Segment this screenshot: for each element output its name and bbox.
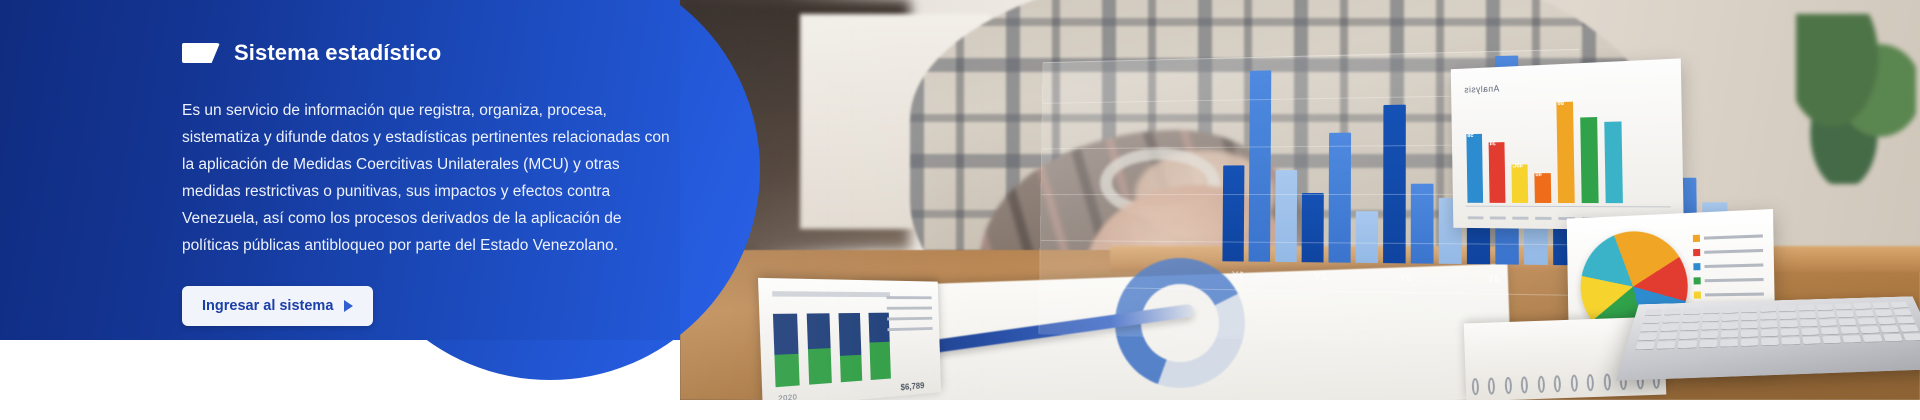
laptop-key [1781,329,1799,336]
laptop-key [1700,331,1718,338]
laptop-key [1664,308,1682,315]
laptop-key [1701,323,1719,330]
banner-content: Sistema estadístico Es un servicio de in… [182,0,682,326]
laptop-key [1761,321,1778,328]
enter-system-button[interactable]: Ingresar al sistema [182,286,373,326]
glass-chart-bar [1222,166,1244,262]
banner-description: Es un servicio de información que regist… [182,98,672,260]
laptop-key [1703,307,1720,313]
laptop-key [1821,327,1839,334]
laptop-key [1761,338,1779,346]
analysis-card-bar: 86 [1556,101,1574,203]
pie-legend-swatch [1693,263,1700,270]
laptop-key [1801,328,1819,335]
glass-chart-bar [1356,212,1378,263]
analysis-card-bar-label: 58 [1467,133,1473,139]
laptop-key [1835,303,1852,309]
laptop-key [1903,333,1920,340]
play-arrow-icon [344,300,353,312]
pie-legend-row [1693,247,1763,256]
laptop-key [1863,334,1882,341]
laptop-key [1721,322,1738,329]
laptop-key [1761,329,1779,336]
laptop-key [1682,315,1700,322]
analysis-card-bar-label: 34 [1490,141,1496,147]
laptop-key [1800,320,1818,327]
laptop-key [1760,306,1776,312]
statistics-system-banner: 2020 $6,789 100080804011Y2Y3Y4Y Analysis… [0,0,1920,420]
pie-legend-row [1693,261,1763,270]
glass-chart-bar [1302,193,1324,262]
laptop-key [1779,305,1796,311]
laptop-key [1890,302,1908,308]
page-title: Sistema estadístico [234,40,441,66]
laptop-key [1818,311,1836,318]
laptop-key [1893,309,1912,316]
photo-laptop-keyboard [1616,296,1920,380]
laptop-key [1760,313,1777,320]
laptop-key [1636,342,1656,350]
analysis-card-bar: 40 [1534,173,1551,203]
laptop-key [1822,336,1841,344]
pie-legend-text-placeholder [1704,249,1763,254]
analysis-card-bar-label: 86 [1557,101,1564,107]
laptop-key [1681,323,1699,330]
pie-legend-swatch [1693,235,1700,242]
glass-chart-bar [1383,104,1406,263]
glass-chart-gridline [1040,286,1580,296]
laptop-key [1782,337,1800,345]
laptop-key [1839,319,1857,326]
analysis-card-axis [1466,206,1671,208]
analysis-card-bar [1604,121,1623,203]
laptop-key [1640,325,1659,332]
laptop-key [1741,338,1759,346]
pie-legend-text-placeholder [1704,263,1763,268]
glass-chart-x-tick: 4Y [1487,274,1500,286]
laptop-key [1657,341,1676,349]
laptop-key [1856,310,1874,317]
glass-chart-x-tick: 1Y [1232,270,1244,281]
laptop-key [1883,334,1903,341]
laptop-key [1679,332,1697,339]
laptop-key [1798,304,1815,310]
laptop-key [1741,306,1757,312]
pie-legend-text-placeholder [1705,278,1764,282]
pie-legend-text-placeholder [1704,234,1763,239]
flag-parallelogram-icon [182,43,220,63]
laptop-key [1663,316,1681,323]
laptop-key [1643,317,1661,324]
laptop-key [1899,325,1919,332]
laptop-keys [1636,302,1920,350]
laptop-key [1720,339,1738,347]
laptop-key [1638,333,1657,340]
pie-legend-text-placeholder [1705,292,1764,296]
laptop-key [1702,315,1719,322]
laptop-key [1645,309,1663,316]
analysis-card-bar [1580,117,1598,203]
laptop-key [1860,326,1879,333]
laptop-key [1722,307,1738,313]
laptop-key [1659,332,1678,339]
laptop-key [1741,314,1758,321]
pie-legend-row [1693,232,1763,242]
laptop-key [1699,340,1717,348]
pie-legend-swatch [1694,291,1701,298]
glass-chart-x-tick: 3Y [1399,272,1412,283]
laptop-key [1780,320,1797,327]
laptop-key [1877,317,1896,324]
glass-chart-x-tick: 2Y [1314,271,1326,282]
photo-analysis-bar-card: Analysis 583440C4086 [1451,58,1684,230]
laptop-key [1896,317,1915,324]
analysis-card-bar-label: 40C [1512,163,1523,169]
laptop-key [1819,319,1837,326]
pie-legend-row [1694,276,1764,285]
laptop-key [1780,313,1797,320]
laptop-key [1872,302,1890,308]
laptop-key [1684,308,1701,314]
laptop-key [1874,310,1892,317]
laptop-key [1802,336,1821,344]
analysis-card-bars: 583440C4086 [1466,89,1623,203]
enter-system-label: Ingresar al sistema [202,298,333,314]
laptop-key [1837,311,1855,318]
laptop-key [1741,322,1758,329]
laptop-key [1841,327,1860,334]
analysis-card-bar-label: 40 [1535,172,1542,178]
laptop-key [1741,330,1758,337]
laptop-key [1721,330,1739,337]
photo-plant [1796,14,1916,184]
laptop-key [1799,312,1816,319]
pie-legend-row [1694,290,1764,298]
pie-legend-swatch [1694,277,1701,284]
analysis-card-bar: 58 [1466,134,1483,203]
analysis-card-bar: 34 [1489,142,1506,203]
laptop-key [1816,304,1833,310]
analysis-card-bar: 40C [1511,164,1528,203]
laptop-key [1722,314,1739,321]
glass-chart-bar [1411,184,1434,264]
laptop-key [1853,303,1871,309]
banner-title-row: Sistema estadístico [182,40,682,66]
laptop-key [1678,340,1697,348]
laptop-key [1880,325,1899,332]
laptop-key [1843,335,1862,343]
laptop-key [1661,324,1679,331]
pie-legend-swatch [1693,249,1700,256]
laptop-key [1858,318,1877,325]
glass-chart-bar [1275,170,1297,262]
